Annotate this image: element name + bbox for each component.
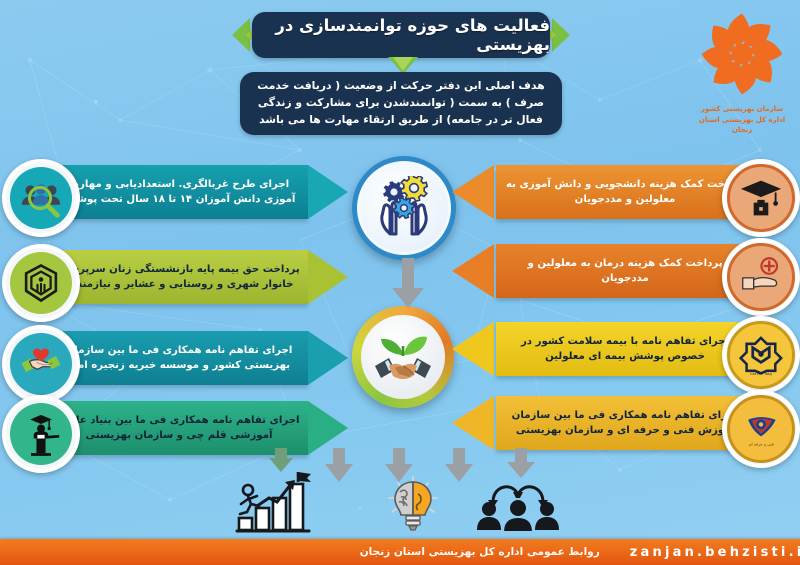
right-item-4[interactable]: اجرای تفاهم نامه همکاری فی ما بین سازمان… [452,392,796,454]
chevron-down-inner-icon [393,57,413,71]
left-item-3[interactable]: اجرای تفاهم نامه همکاری فی ما بین سازمان… [4,327,352,389]
left-item-2-text: پرداخت حق بیمه پایه بازنشستگی زنان سرپرس… [50,262,308,293]
right-item-1[interactable]: پرداخت کمک هزینه دانشجویی و دانش آموزی ب… [452,161,796,223]
organization-logo-caption: سازمان بهزیستی کشور اداره کل بهزیستی است… [690,104,794,136]
page-title-text: فعالیت های حوزه توانمندسازی در بهزیستی [252,16,550,54]
team-people-icon [475,474,561,532]
center-node-partnership [352,306,454,408]
technical-vocational-logo-icon: فنی و حرفه ای [739,407,783,451]
left-item-4-text: اجرای تفاهم نامه همکاری فی ما بین بنیاد … [50,413,308,444]
organization-name-line1: سازمان بهزیستی کشور [690,104,794,115]
right-item-3[interactable]: اجرای تفاهم نامه با بیمه سلامت کشور در خ… [452,318,796,380]
right-item-3-bar[interactable]: اجرای تفاهم نامه با بیمه سلامت کشور در خ… [496,322,754,376]
handshake-with-plant-icon [369,326,437,388]
hand-medical-cross-icon [739,256,783,298]
right-item-2-text: پرداخت کمک هزینه درمان به معلولین و مددج… [496,256,754,287]
behzisti-flower-logo-icon [694,6,790,102]
right-item-2-badge[interactable] [722,238,800,316]
left-item-1-text: اجرای طرح غربالگری. استعدادیابی و مهارت … [50,177,308,208]
left-item-1[interactable]: اجرای طرح غربالگری. استعدادیابی و مهارت … [4,161,352,223]
people-magnifier-icon [18,175,64,221]
right-item-1-text: پرداخت کمک هزینه دانشجویی و دانش آموزی ب… [496,177,754,208]
center-connector-arrows [352,258,464,312]
left-item-1-badge[interactable] [2,159,80,237]
bottom-icon-growth [235,470,321,538]
right-item-4-badge[interactable]: فنی و حرفه ای [722,390,800,468]
bottom-outcome-icons [215,460,575,530]
left-item-2-badge[interactable] [2,244,80,322]
social-security-shield-icon [20,262,62,304]
organization-name-line2: اداره کل بهزیستی استان زنجان [690,115,794,136]
left-item-2-arrowhead [308,250,348,304]
left-item-2-bar[interactable]: پرداخت حق بیمه پایه بازنشستگی زنان سرپرس… [50,250,308,304]
right-item-1-badge[interactable] [722,159,800,237]
subtitle-panel: هدف اصلی این دفتر حرکت از وضعیت ( دریافت… [240,72,562,135]
left-item-1-bar[interactable]: اجرای طرح غربالگری. استعدادیابی و مهارت … [50,165,308,219]
hand-giving-heart-icon [18,343,64,385]
left-item-4-badge[interactable] [2,395,80,473]
right-item-3-text: اجرای تفاهم نامه با بیمه سلامت کشور در خ… [496,334,754,365]
left-item-3-text: اجرای تفاهم نامه همکاری فی ما بین سازمان… [50,343,308,374]
left-item-4-arrowhead [308,401,348,455]
right-item-2-arrowhead [452,244,494,298]
svg-text:فنی و حرفه ای: فنی و حرفه ای [748,442,773,447]
right-item-4-arrowhead [452,396,494,450]
left-item-4-bar[interactable]: اجرای تفاهم نامه همکاری فی ما بین بنیاد … [50,401,308,455]
hands-with-gears-icon [372,176,436,240]
bottom-icon-idea [385,474,441,536]
infographic-canvas: فعالیت های حوزه توانمندسازی در بهزیستی ه… [0,0,800,565]
website-url[interactable]: zanjan.behzisti.ir [630,545,800,560]
growth-chart-person-icon [235,470,321,534]
page-title: فعالیت های حوزه توانمندسازی در بهزیستی [252,12,550,58]
right-item-2[interactable]: پرداخت کمک هزینه درمان به معلولین و مددج… [452,240,796,302]
brain-lightbulb-icon [385,474,441,532]
right-item-1-arrowhead [452,165,494,219]
right-item-4-bar[interactable]: اجرای تفاهم نامه همکاری فی ما بین سازمان… [496,396,754,450]
left-item-3-arrowhead [308,331,348,385]
footer-bar: zanjan.behzisti.ir روابط عمومی اداره کل … [0,539,800,565]
right-item-3-arrowhead [452,322,494,376]
graduation-cap-icon [739,177,783,219]
svg-text:بیمه سلامت: بیمه سلامت [750,371,773,376]
right-item-4-text: اجرای تفاهم نامه همکاری فی ما بین سازمان… [496,408,754,439]
salamat-insurance-logo-icon: بیمه سلامت [739,333,783,377]
footer-caption: روابط عمومی اداره کل بهزیستی استان زنجان [360,546,600,558]
right-item-3-badge[interactable]: بیمه سلامت [722,316,800,394]
center-node-empowerment [352,156,456,260]
left-item-3-badge[interactable] [2,325,80,403]
left-item-2[interactable]: پرداخت حق بیمه پایه بازنشستگی زنان سرپرس… [4,246,352,308]
left-item-1-arrowhead [308,165,348,219]
right-item-1-bar[interactable]: پرداخت کمک هزینه دانشجویی و دانش آموزی ب… [496,165,754,219]
organization-logo: سازمان بهزیستی کشور اداره کل بهزیستی است… [690,4,794,136]
subtitle-text: هدف اصلی این دفتر حرکت از وضعیت ( دریافت… [240,78,562,128]
page-title-banner: فعالیت های حوزه توانمندسازی در بهزیستی [236,12,566,58]
graduate-teacher-icon [21,411,61,457]
right-item-2-bar[interactable]: پرداخت کمک هزینه درمان به معلولین و مددج… [496,244,754,298]
left-item-3-bar[interactable]: اجرای تفاهم نامه همکاری فی ما بین سازمان… [50,331,308,385]
bottom-icon-team [475,474,561,536]
